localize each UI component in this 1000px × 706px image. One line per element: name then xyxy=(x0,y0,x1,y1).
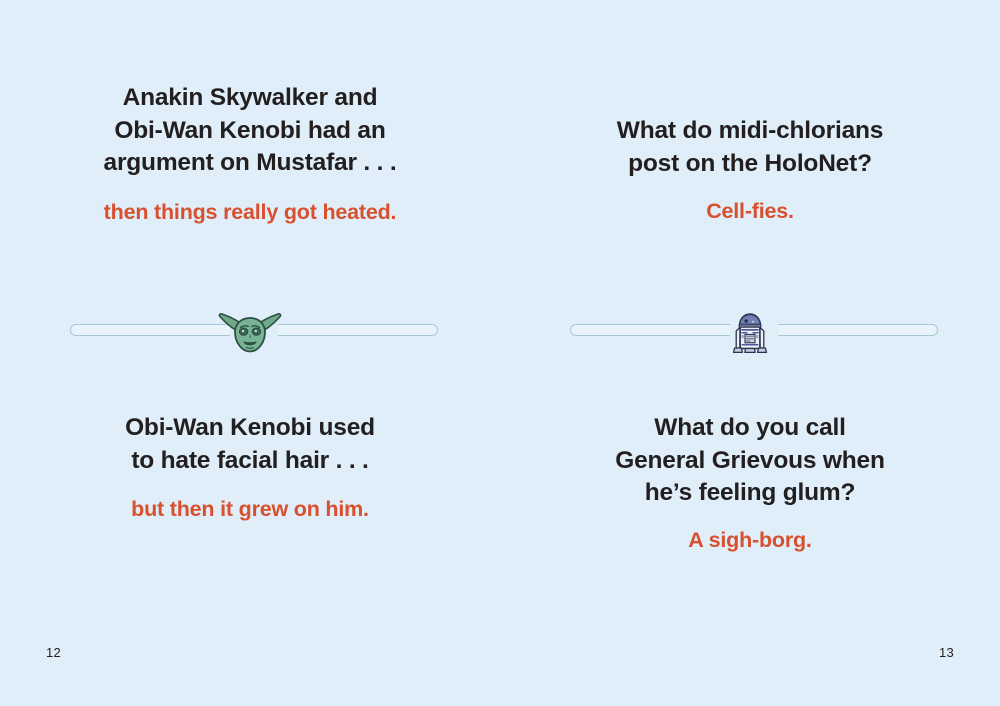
joke-punchline: then things really got heated. xyxy=(0,198,500,227)
divider-rule-right xyxy=(778,324,938,336)
r2d2-droid-icon xyxy=(715,310,785,356)
joke-punchline: A sigh-borg. xyxy=(500,526,1000,555)
spacer xyxy=(0,477,500,495)
divider-rule-left xyxy=(70,324,230,336)
joke-punchline: Cell-fies. xyxy=(500,197,1000,226)
page-number: 13 xyxy=(939,645,954,660)
joke-punchline: but then it grew on him. xyxy=(0,495,500,524)
left-page: Anakin Skywalker and Obi-Wan Kenobi had … xyxy=(0,0,500,706)
book-spread: Anakin Skywalker and Obi-Wan Kenobi had … xyxy=(0,0,1000,706)
spacer xyxy=(500,180,1000,197)
joke-setup: What do you call General Grievous when h… xyxy=(500,412,1000,510)
right-page: What do midi-chlorians post on the HoloN… xyxy=(500,0,1000,706)
divider-rule-right xyxy=(278,324,438,336)
yoda-head-icon xyxy=(215,310,285,356)
joke-block: Anakin Skywalker and Obi-Wan Kenobi had … xyxy=(0,82,500,227)
spacer xyxy=(0,180,500,198)
joke-setup: Anakin Skywalker and Obi-Wan Kenobi had … xyxy=(0,82,500,180)
joke-block: What do midi-chlorians post on the HoloN… xyxy=(500,115,1000,226)
section-divider xyxy=(500,310,1000,350)
divider-rule-left xyxy=(570,324,730,336)
joke-setup: What do midi-chlorians post on the HoloN… xyxy=(500,115,1000,180)
section-divider xyxy=(0,310,500,350)
spacer xyxy=(500,510,1000,526)
joke-block: What do you call General Grievous when h… xyxy=(500,412,1000,555)
joke-setup: Obi-Wan Kenobi used to hate facial hair … xyxy=(0,412,500,477)
page-number: 12 xyxy=(46,645,61,660)
joke-block: Obi-Wan Kenobi used to hate facial hair … xyxy=(0,412,500,524)
